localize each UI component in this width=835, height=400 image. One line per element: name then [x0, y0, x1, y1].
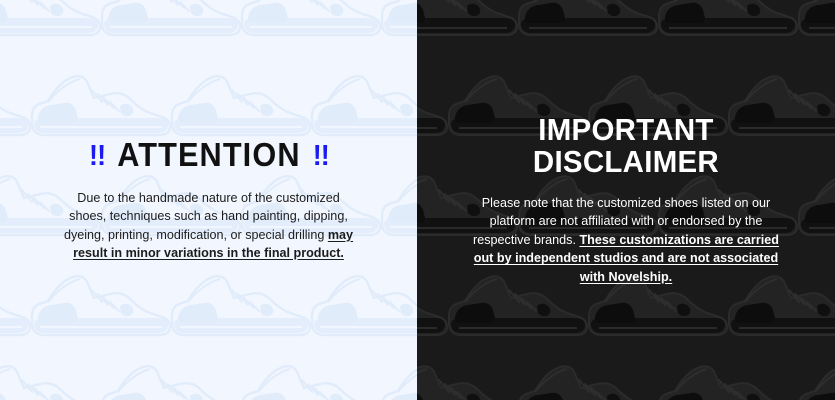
disclaimer-banner: !!ATTENTION!! Due to the handmade nature… — [0, 0, 835, 400]
attention-bang-left: !! — [89, 140, 105, 172]
attention-body: Due to the handmade nature of the custom… — [59, 189, 359, 263]
attention-panel: !!ATTENTION!! Due to the handmade nature… — [0, 0, 417, 400]
disclaimer-heading-line1: IMPORTANT — [533, 114, 719, 146]
attention-body-normal: Due to the handmade nature of the custom… — [64, 191, 348, 242]
disclaimer-heading-line2: DISCLAIMER — [533, 146, 719, 178]
attention-heading: !!ATTENTION!! — [89, 138, 329, 171]
attention-heading-word: ATTENTION — [117, 136, 300, 173]
disclaimer-panel: IMPORTANT DISCLAIMER Please note that th… — [417, 0, 835, 400]
attention-bang-right: !! — [312, 140, 328, 172]
disclaimer-body: Please note that the customized shoes li… — [467, 194, 785, 287]
disclaimer-content: IMPORTANT DISCLAIMER Please note that th… — [417, 0, 835, 400]
disclaimer-heading: IMPORTANT DISCLAIMER — [533, 114, 719, 178]
attention-content: !!ATTENTION!! Due to the handmade nature… — [0, 0, 417, 400]
